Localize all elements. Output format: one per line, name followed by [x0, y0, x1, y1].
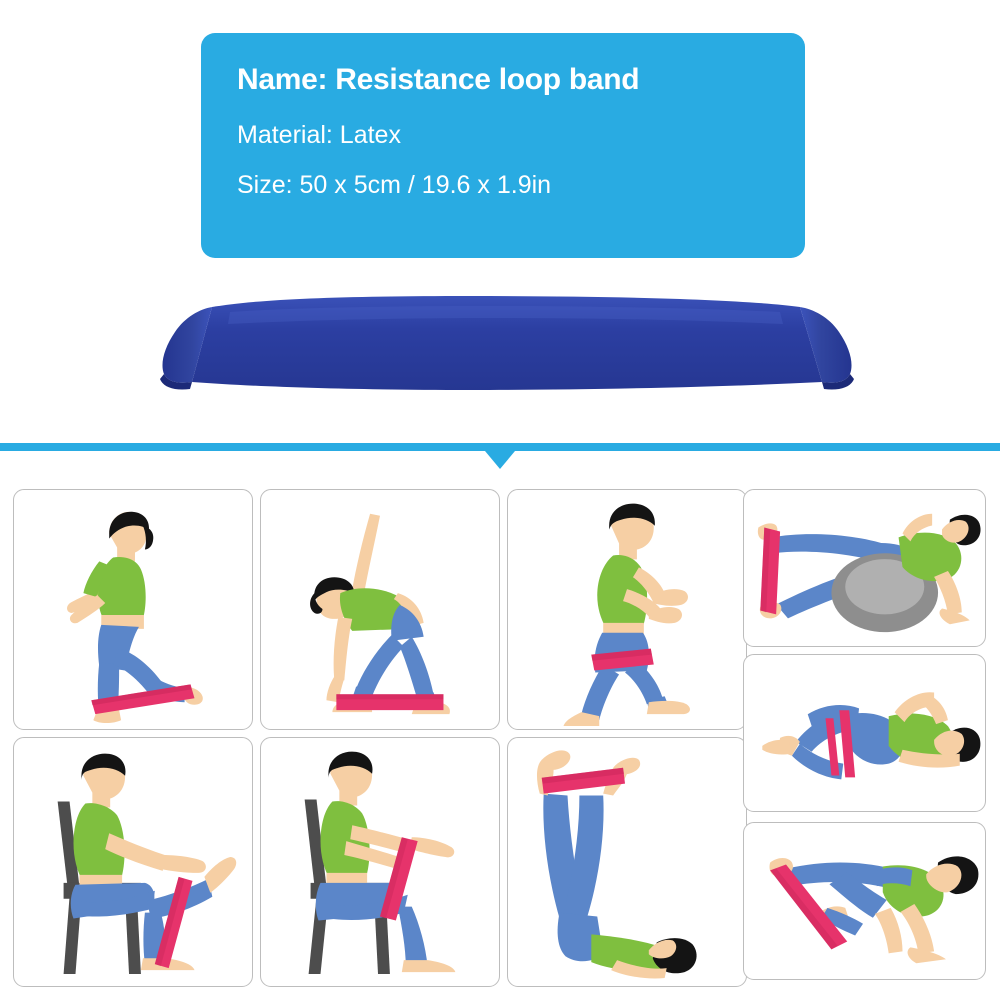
figure-lateral-squat-step: [564, 504, 690, 726]
exercise-illustration-grid: [0, 0, 1000, 1000]
exercise-card-side-lying-leg-raise-on-ball[interactable]: [743, 489, 986, 647]
exercise-card-quadruped-leg-kickback[interactable]: [743, 822, 986, 980]
figure-seated-leg-extension: [71, 754, 236, 970]
exercise-card-seated-leg-extension[interactable]: [13, 737, 253, 987]
figure-side-lying-clamshell: [762, 692, 980, 779]
exercise-card-lateral-squat-step[interactable]: [507, 489, 747, 730]
figure-lying-leg-abduction: [537, 750, 697, 978]
exercise-card-lying-leg-abduction[interactable]: [507, 737, 747, 987]
exercise-card-side-lying-clamshell[interactable]: [743, 654, 986, 812]
exercise-card-seated-arm-press[interactable]: [260, 737, 500, 987]
figure-side-lying-leg-raise-on-ball: [758, 514, 981, 632]
figure-triangle-side-stretch: [310, 514, 450, 714]
exercise-card-standing-leg-kickback[interactable]: [13, 489, 253, 730]
figure-quadruped-leg-kickback: [769, 856, 978, 963]
figure-standing-leg-kickback: [67, 512, 203, 723]
exercise-card-triangle-side-stretch[interactable]: [260, 489, 500, 730]
